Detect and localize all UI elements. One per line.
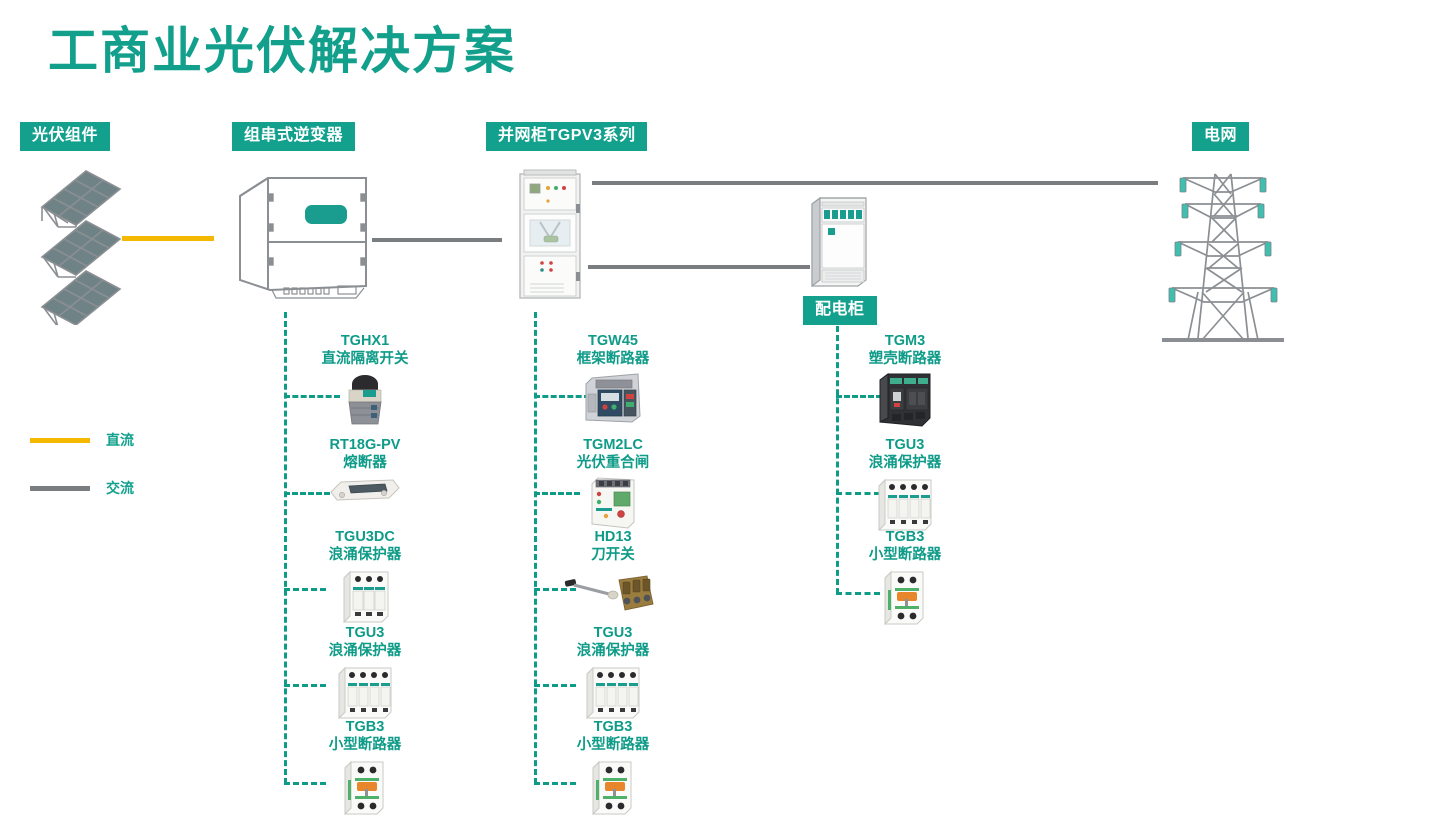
surge-protector-3p-icon [336,566,394,624]
surge-protector-4p-icon [333,662,397,720]
component-art-spd4 [800,474,1010,532]
component-desc: 塑壳断路器 [800,350,1010,368]
component-item: TGM2LC 光伏重合闸 [508,436,718,532]
component-desc: 光伏重合闸 [508,454,718,472]
badge-label: 并网柜TGPV3系列 [486,122,647,151]
solar-panel-icon [22,165,137,325]
component-art-acb [508,370,718,428]
component-code: TGB3 [800,528,1010,546]
component-code: TGW45 [508,332,718,350]
page-title: 工商业光伏解决方案 [48,24,516,79]
component-code: TGB3 [260,718,470,736]
transmission-tower [1158,162,1288,360]
ac-line-inverter-to-cabinet [372,238,502,242]
pv-fuse-icon [327,474,403,504]
component-desc: 小型断路器 [800,546,1010,564]
badge-label: 电网 [1192,122,1249,151]
badge-distribution-cabinet: 配电柜 [803,296,877,325]
component-desc: 浪涌保护器 [508,642,718,660]
inverter-icon [228,168,378,308]
component-desc: 熔断器 [260,454,470,472]
legend-dc: 直流 [30,430,134,450]
badge-label: 组串式逆变器 [232,122,355,151]
legend-swatch-ac [30,486,90,491]
component-desc: 浪涌保护器 [260,546,470,564]
component-desc: 直流隔离开关 [260,350,470,368]
legend-swatch-dc [30,438,90,443]
component-art-mcb [508,756,718,814]
component-item: TGB3 小型断路器 [260,718,470,814]
miniature-circuit-breaker-icon [879,566,931,628]
component-desc: 小型断路器 [508,736,718,754]
component-code: TGM3 [800,332,1010,350]
ac-line-cabinet-to-distribution [588,265,810,269]
badge-pv-module: 光伏组件 [20,122,110,151]
molded-case-circuit-breaker-icon [874,370,936,430]
legend-label-ac: 交流 [106,478,134,498]
solar-array [22,165,137,325]
component-code: TGM2LC [508,436,718,454]
component-code: TGB3 [508,718,718,736]
component-item: HD13 刀开关 [508,528,718,624]
component-art-spd3 [260,566,470,624]
component-code: HD13 [508,528,718,546]
knife-switch-icon [563,566,663,616]
component-art-fuse [260,474,470,532]
dc-line-panels-to-inverter [122,236,214,241]
component-item: TGU3 浪涌保护器 [800,436,1010,532]
component-art-mcb [800,566,1010,624]
badge-inverter: 组串式逆变器 [232,122,355,151]
legend-label-dc: 直流 [106,430,134,450]
component-art-spd4 [260,662,470,720]
surge-protector-4p-icon [581,662,645,720]
component-code: TGU3 [508,624,718,642]
badge-grid-cabinet: 并网柜TGPV3系列 [486,122,647,151]
component-item: TGM3 塑壳断路器 [800,332,1010,428]
component-art-isolator [260,370,470,428]
ac-line-cabinet-to-grid [592,181,1158,185]
component-item: TGU3 浪涌保护器 [260,624,470,720]
component-code: TGU3 [800,436,1010,454]
component-art-mcb [260,756,470,814]
air-circuit-breaker-icon [582,370,644,424]
component-art-mccb [800,370,1010,428]
string-inverter [228,168,378,308]
badge-power-grid: 电网 [1192,122,1249,151]
component-code: TGHX1 [260,332,470,350]
legend-ac: 交流 [30,478,134,498]
transmission-tower-icon [1158,162,1288,360]
grid-tie-cabinet [518,168,584,300]
grid-cabinet-icon [518,168,584,300]
component-desc: 浪涌保护器 [800,454,1010,472]
component-desc: 刀开关 [508,546,718,564]
component-item: TGU3 浪涌保护器 [508,624,718,720]
pv-recloser-icon [586,474,640,530]
component-item: TGU3DC 浪涌保护器 [260,528,470,624]
component-code: RT18G-PV [260,436,470,454]
component-code: TGU3 [260,624,470,642]
dc-isolator-switch-icon [337,370,393,428]
component-desc: 框架断路器 [508,350,718,368]
component-item: TGW45 框架断路器 [508,332,718,428]
badge-label: 光伏组件 [20,122,110,151]
distribution-cabinet [806,196,876,288]
component-item: RT18G-PV 熔断器 [260,436,470,532]
miniature-circuit-breaker-icon [339,756,391,818]
component-art-recloser [508,474,718,532]
component-item: TGB3 小型断路器 [508,718,718,814]
component-item: TGHX1 直流隔离开关 [260,332,470,428]
component-code: TGU3DC [260,528,470,546]
component-item: TGB3 小型断路器 [800,528,1010,624]
distribution-cabinet-icon [806,196,876,288]
component-desc: 小型断路器 [260,736,470,754]
component-art-knife [508,566,718,624]
component-art-spd4 [508,662,718,720]
diagram-canvas: 工商业光伏解决方案 光伏组件 组串式逆变器 并网柜TGPV3系列 电网 配电柜 … [0,0,1436,829]
miniature-circuit-breaker-icon [587,756,639,818]
badge-label: 配电柜 [803,296,877,325]
surge-protector-4p-icon [873,474,937,532]
component-desc: 浪涌保护器 [260,642,470,660]
